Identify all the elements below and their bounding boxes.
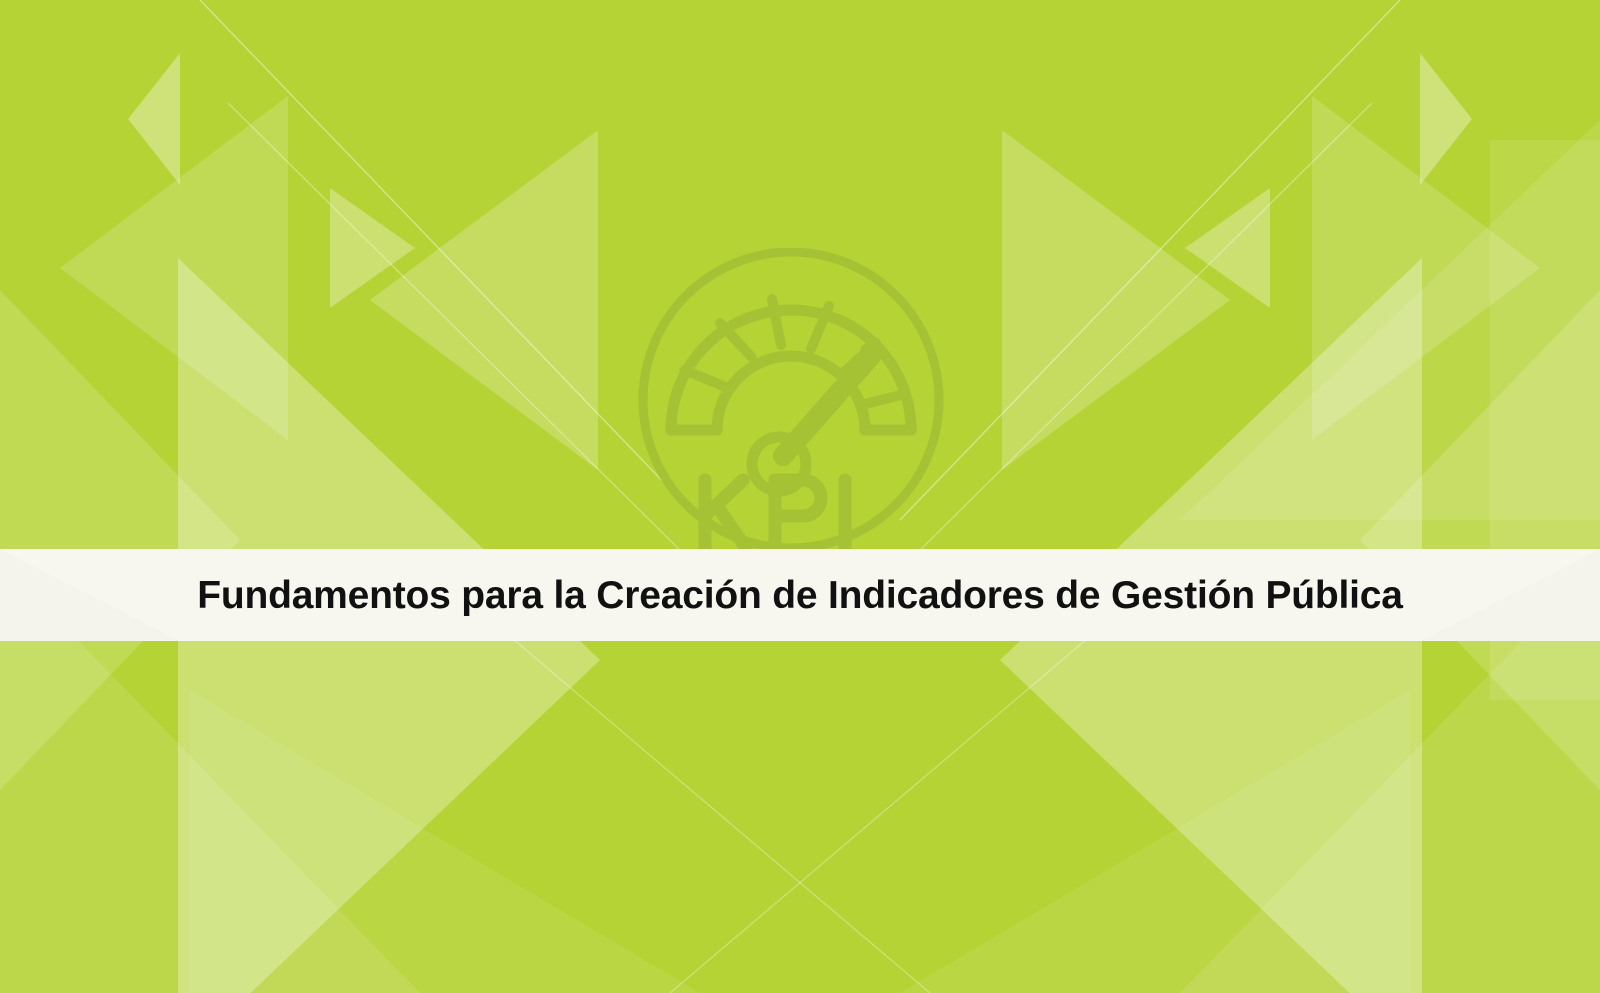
kpi-gauge-icon [633, 248, 953, 558]
slide-canvas: Fundamentos para la Creación de Indicado… [0, 0, 1600, 993]
page-title: Fundamentos para la Creación de Indicado… [167, 576, 1433, 615]
title-band: Fundamentos para la Creación de Indicado… [0, 549, 1600, 641]
